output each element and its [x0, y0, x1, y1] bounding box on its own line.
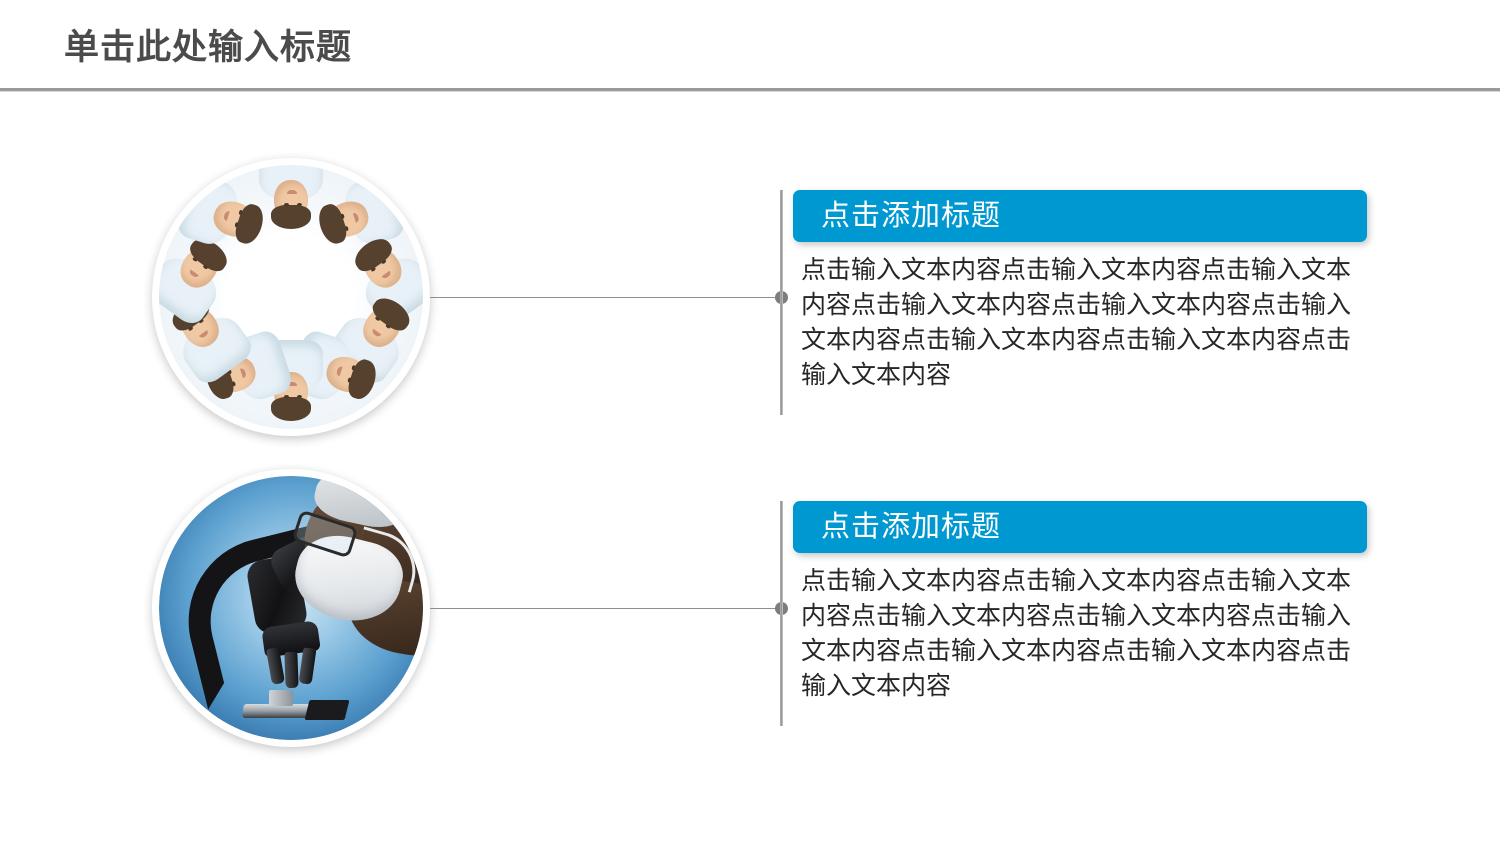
body-text[interactable]: 点击输入文本内容点击输入文本内容点击输入文本内容点击输入文本内容点击输入文本内容…: [793, 564, 1357, 704]
connector-line: [430, 297, 780, 298]
banner-1[interactable]: 点击添加标题: [793, 190, 1367, 242]
microscope-objective: [284, 652, 298, 688]
photo-team-graphic: [159, 165, 423, 429]
connector-line: [430, 608, 780, 609]
content-block-2: 点击添加标题 点击输入文本内容点击输入文本内容点击输入文本内容点击输入文本内容点…: [0, 459, 1500, 759]
text-block: 点击添加标题 点击输入文本内容点击输入文本内容点击输入文本内容点击输入文本内容点…: [793, 190, 1367, 393]
microscope-scientist-photo[interactable]: [152, 469, 430, 747]
team-head: [200, 188, 269, 250]
team-head: [268, 172, 314, 230]
vertical-rule: [780, 190, 783, 415]
banner-title: 点击添加标题: [821, 513, 1001, 542]
banner-title: 点击添加标题: [821, 202, 1001, 231]
text-block: 点击添加标题 点击输入文本内容点击输入文本内容点击输入文本内容点击输入文本内容点…: [793, 501, 1367, 704]
microscope-base-shadow: [305, 700, 350, 720]
title-divider: [0, 88, 1500, 92]
body-text[interactable]: 点击输入文本内容点击输入文本内容点击输入文本内容点击输入文本内容点击输入文本内容…: [793, 253, 1357, 393]
medical-team-circle-photo[interactable]: [152, 158, 430, 436]
photo-microscope-graphic: [159, 476, 423, 740]
banner-2[interactable]: 点击添加标题: [793, 501, 1367, 553]
vertical-rule: [780, 501, 783, 726]
page-title: 单击此处输入标题: [64, 26, 352, 70]
content-block-1: 点击添加标题 点击输入文本内容点击输入文本内容点击输入文本内容点击输入文本内容点…: [0, 148, 1500, 448]
